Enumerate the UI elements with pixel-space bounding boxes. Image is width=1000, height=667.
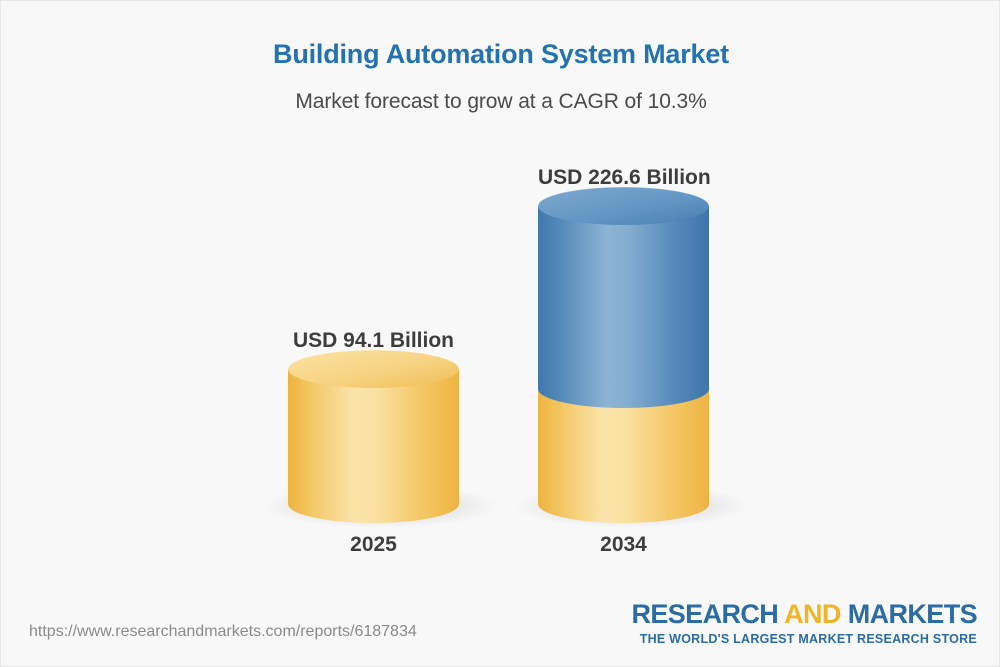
value-label-2025: USD 94.1 Billion bbox=[288, 329, 459, 353]
logo-word-markets: MARKETS bbox=[841, 599, 977, 629]
source-url[interactable]: https://www.researchandmarkets.com/repor… bbox=[29, 623, 417, 641]
research-and-markets-logo[interactable]: RESEARCH AND MARKETS THE WORLD'S LARGEST… bbox=[631, 601, 977, 646]
bar-2034-growth-segment bbox=[538, 206, 709, 408]
bar-2034 bbox=[513, 187, 749, 528]
logo-word-and: AND bbox=[784, 599, 841, 629]
bar-2025 bbox=[263, 350, 499, 528]
logo-word-research: RESEARCH bbox=[631, 599, 784, 629]
logo-wordmark: RESEARCH AND MARKETS bbox=[631, 601, 977, 628]
bar-2025-body bbox=[288, 369, 459, 523]
chart-canvas: Building Automation System Market Market… bbox=[0, 0, 1000, 667]
value-label-2034: USD 226.6 Billion bbox=[538, 166, 709, 190]
bar-2034-base-segment bbox=[538, 389, 709, 523]
bar-chart-graphic bbox=[1, 1, 1000, 667]
logo-tagline: THE WORLD'S LARGEST MARKET RESEARCH STOR… bbox=[631, 632, 977, 646]
category-label-2025: 2025 bbox=[288, 533, 459, 557]
category-label-2034: 2034 bbox=[538, 533, 709, 557]
